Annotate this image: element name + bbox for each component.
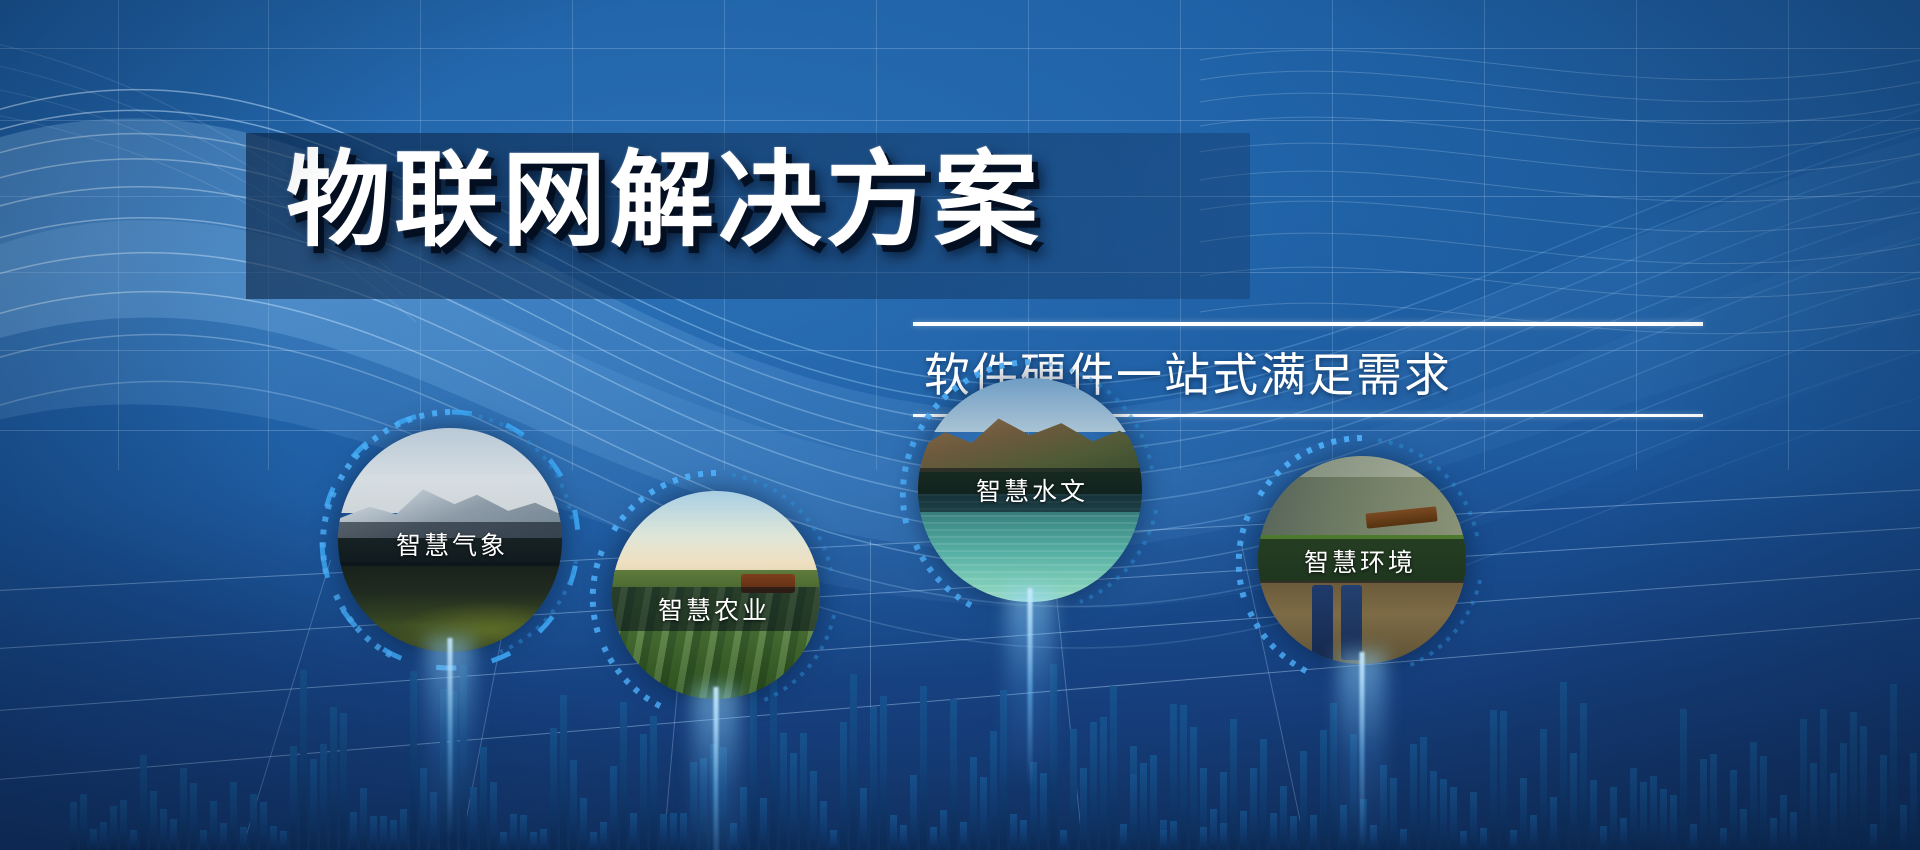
equalizer-bar (1640, 782, 1647, 850)
equalizer-bar (1360, 799, 1367, 850)
equalizer-bar (790, 753, 797, 850)
equalizer-bar (640, 734, 647, 850)
equalizer-bar (700, 758, 707, 850)
equalizer-bar (550, 728, 557, 850)
equalizer-bar (650, 716, 657, 850)
equalizer-bar (470, 787, 477, 850)
equalizer-bar (240, 827, 247, 850)
equalizer-bar (540, 829, 547, 850)
equalizer-bar (1530, 815, 1537, 850)
node-weather-label: 智慧气象 (338, 526, 508, 562)
equalizer-bar (1860, 726, 1867, 850)
equalizer-bar (800, 733, 807, 850)
equalizer-bar (1070, 729, 1077, 850)
equalizer-bar (350, 812, 357, 850)
equalizer-bar (1730, 770, 1737, 850)
equalizer-bar (1840, 743, 1847, 850)
equalizer-bar (1650, 776, 1657, 850)
equalizer-bar (1090, 722, 1097, 850)
node-hydrology[interactable]: 智慧水文 (880, 340, 1180, 640)
equalizer-bar (1910, 753, 1917, 850)
equalizer-bar (1600, 826, 1607, 850)
equalizer-bar (1310, 815, 1317, 850)
equalizer-bar (180, 768, 187, 850)
equalizer-bar (1810, 763, 1817, 850)
equalizer-bar (820, 801, 827, 850)
equalizer-bar (1380, 765, 1387, 850)
equalizer-bar (300, 670, 307, 850)
equalizer-bar (560, 695, 567, 850)
equalizer-bar (1710, 754, 1717, 850)
equalizer-bar (1100, 717, 1107, 850)
equalizer-bar (1160, 830, 1167, 850)
equalizer-bar (160, 809, 167, 850)
equalizer-bar (1590, 780, 1597, 850)
equalizer-bar (1610, 787, 1617, 850)
equalizer-bar (1350, 734, 1357, 850)
equalizer-bar (290, 746, 297, 850)
node-environment[interactable]: 智慧环境 (1222, 420, 1502, 700)
equalizer-bar (400, 809, 407, 850)
equalizer-bar (1230, 719, 1237, 850)
equalizer-bar (1280, 786, 1287, 850)
equalizer-bar (500, 832, 507, 850)
equalizer-bar (1330, 703, 1337, 850)
equalizer-bar (280, 831, 287, 850)
equalizer-bar (840, 722, 847, 850)
node-environment-label-bar: 智慧环境 (1258, 539, 1466, 583)
equalizer-bar (410, 671, 417, 850)
equalizer-bar (1760, 756, 1767, 850)
equalizer-bar (860, 788, 867, 850)
equalizer-bar (1630, 768, 1637, 850)
equalizer-bar (880, 696, 887, 850)
weather-photo: 智慧气象 (338, 428, 562, 652)
equalizer-bar (1880, 755, 1887, 850)
equalizer-bar (1370, 825, 1377, 850)
equalizer-bar (70, 802, 77, 850)
equalizer-bar (1720, 828, 1727, 850)
equalizer-bar (1140, 763, 1147, 850)
equalizer-bar (1460, 831, 1467, 850)
node-weather[interactable]: 智慧气象 (300, 390, 600, 690)
equalizer-left (70, 742, 307, 850)
equalizer-bar (690, 762, 697, 850)
equalizer-bar (1690, 824, 1697, 850)
node-weather-label-bar: 智慧气象 (338, 522, 562, 566)
equalizer-bar (1450, 787, 1457, 850)
equalizer-bar (1340, 805, 1347, 850)
equalizer-bar (1430, 771, 1437, 850)
equalizer-right (1100, 682, 1917, 850)
equalizer-bar (1150, 755, 1157, 850)
equalizer-bar (730, 823, 737, 850)
equalizer-bar (1110, 686, 1117, 850)
equalizer-bar (1800, 719, 1807, 850)
equalizer-bar (940, 810, 947, 850)
equalizer-bar (1120, 824, 1127, 850)
node-agriculture-label-bar: 智慧农业 (612, 587, 820, 631)
equalizer-bar (450, 691, 457, 850)
equalizer-bar (460, 665, 467, 850)
equalizer-bar (430, 792, 437, 850)
equalizer-bar (220, 823, 227, 850)
equalizer-bar (310, 759, 317, 850)
equalizer-bar (360, 788, 367, 850)
equalizer-bar (1170, 821, 1177, 850)
equalizer-bar (980, 777, 987, 850)
equalizer-bar (1900, 805, 1907, 850)
equalizer-bar (390, 820, 397, 850)
equalizer-bar (570, 760, 577, 850)
equalizer-bar (1250, 768, 1257, 850)
equalizer-bar (1850, 712, 1857, 850)
equalizer-bar (1390, 778, 1397, 850)
equalizer-bar (1060, 830, 1067, 850)
equalizer-bar (960, 822, 967, 850)
equalizer-bar (1000, 690, 1007, 850)
equalizer-bar (600, 822, 607, 850)
equalizer-bar (1700, 759, 1707, 850)
equalizer-bar (520, 815, 527, 850)
equalizer-bar (90, 829, 97, 850)
node-agriculture[interactable]: 智慧农业 (576, 455, 856, 735)
equalizer-bar (630, 813, 637, 850)
equalizer-bar (1030, 762, 1037, 850)
equalizer-bar (250, 794, 257, 850)
equalizer-bar (1040, 773, 1047, 850)
equalizer-bar (1780, 795, 1787, 850)
equalizer-bar (1130, 774, 1137, 850)
equalizer-bar (1400, 829, 1407, 850)
equalizer-bar (1830, 773, 1837, 850)
equalizer-bar (1420, 737, 1427, 850)
equalizer-bar (1050, 664, 1057, 850)
equalizer-bar (1270, 813, 1277, 850)
equalizer-bar (1770, 818, 1777, 850)
equalizer-bar (510, 814, 517, 850)
equalizer-bar (1870, 824, 1877, 850)
node-environment-label: 智慧环境 (1258, 543, 1416, 579)
equalizer-bar (320, 744, 327, 850)
equalizer-bar (1470, 792, 1477, 850)
agriculture-photo: 智慧农业 (612, 491, 820, 699)
environment-photo: 智慧环境 (1258, 456, 1466, 664)
equalizer-bar (210, 801, 217, 850)
node-hydrology-label-bar: 智慧水文 (918, 468, 1142, 512)
equalizer-bar (1440, 779, 1447, 850)
equalizer-bar (1520, 778, 1527, 850)
equalizer-bar (870, 707, 877, 850)
equalizer-bar (1300, 751, 1307, 850)
equalizer-bar (830, 830, 837, 850)
equalizer-bar (710, 744, 717, 850)
equalizer-bar (1260, 739, 1267, 850)
equalizer-bar (190, 783, 197, 850)
equalizer-bar (1550, 797, 1557, 850)
equalizer-bar (720, 747, 727, 850)
equalizer-bar (1570, 753, 1577, 850)
equalizer-bar (780, 733, 787, 850)
equalizer-bar (150, 791, 157, 850)
equalizer-bar (900, 825, 907, 850)
equalizer-bar (1220, 823, 1227, 850)
equalizer-bar (660, 814, 667, 850)
equalizer-bar (910, 775, 917, 850)
equalizer-bar (1480, 828, 1487, 850)
equalizer-bar (170, 819, 177, 850)
equalizer-bar (130, 830, 137, 850)
equalizer-bar (580, 798, 587, 850)
equalizer-bar (680, 813, 687, 850)
equalizer-bar (1290, 816, 1297, 850)
equalizer-bar (1660, 789, 1667, 850)
equalizer-bar (1560, 682, 1567, 850)
equalizer-bar (1680, 709, 1687, 850)
equalizer-bar (590, 832, 597, 850)
equalizer-bar (1320, 730, 1327, 850)
equalizer-bar (1010, 814, 1017, 850)
equalizer-bar (1410, 744, 1417, 850)
equalizer-bar (330, 707, 337, 850)
equalizer-bar (760, 798, 767, 850)
equalizer-bar (1210, 809, 1217, 850)
equalizer-bar (490, 782, 497, 850)
node-agriculture-label: 智慧农业 (612, 591, 770, 627)
equalizer-bar (1500, 711, 1507, 850)
equalizer-bar (530, 832, 537, 850)
equalizer-bar (370, 816, 377, 850)
equalizer-bar (140, 755, 147, 850)
equalizer-bar (1790, 812, 1797, 850)
equalizer-bar (120, 800, 127, 850)
equalizer-bar (110, 806, 117, 850)
equalizer-bar (1510, 830, 1517, 850)
equalizer-bar (610, 766, 617, 850)
equalizer-bar (1180, 705, 1187, 850)
equalizer-bar (1580, 703, 1587, 850)
equalizer-bar (740, 787, 747, 850)
equalizer-bar (440, 689, 447, 850)
equalizer-bar (930, 827, 937, 850)
equalizer-bar (990, 731, 997, 850)
equalizer-bar (480, 747, 487, 850)
equalizer-bar (260, 802, 267, 850)
subtitle-rule-top (913, 322, 1703, 326)
equalizer-bar (1750, 742, 1757, 850)
equalizer-bar (1200, 827, 1207, 850)
page-title: 物联网解决方案 (286, 140, 1246, 263)
equalizer-bar (1820, 709, 1827, 850)
equalizer-bar (380, 816, 387, 850)
equalizer-bar (1540, 729, 1547, 850)
equalizer-bar (340, 713, 347, 850)
equalizer-bar (100, 822, 107, 850)
equalizer-bar (270, 826, 277, 850)
hero-banner: 物联网解决方案 软件硬件一站式满足需求 (0, 0, 1920, 850)
equalizer-bar (1490, 710, 1497, 850)
equalizer-bar (80, 794, 87, 850)
node-hydrology-label: 智慧水文 (918, 472, 1088, 508)
equalizer-bar (890, 815, 897, 850)
equalizer-bar (1240, 811, 1247, 850)
equalizer-bar (200, 830, 207, 850)
hydrology-photo: 智慧水文 (918, 378, 1142, 602)
equalizer-bar (950, 699, 957, 850)
equalizer-bar (230, 782, 237, 850)
equalizer-bar (1740, 809, 1747, 850)
equalizer-bar (1080, 768, 1087, 850)
equalizer-bar (810, 771, 817, 850)
equalizer-bar (1890, 684, 1897, 850)
equalizer-bar (1190, 727, 1197, 850)
equalizer-bar (670, 813, 677, 850)
equalizer-bar (970, 757, 977, 850)
equalizer-bar (1020, 820, 1027, 850)
equalizer-bar (920, 686, 927, 850)
equalizer-bar (1620, 818, 1627, 850)
equalizer-bar (420, 768, 427, 850)
equalizer-bar (1670, 795, 1677, 850)
